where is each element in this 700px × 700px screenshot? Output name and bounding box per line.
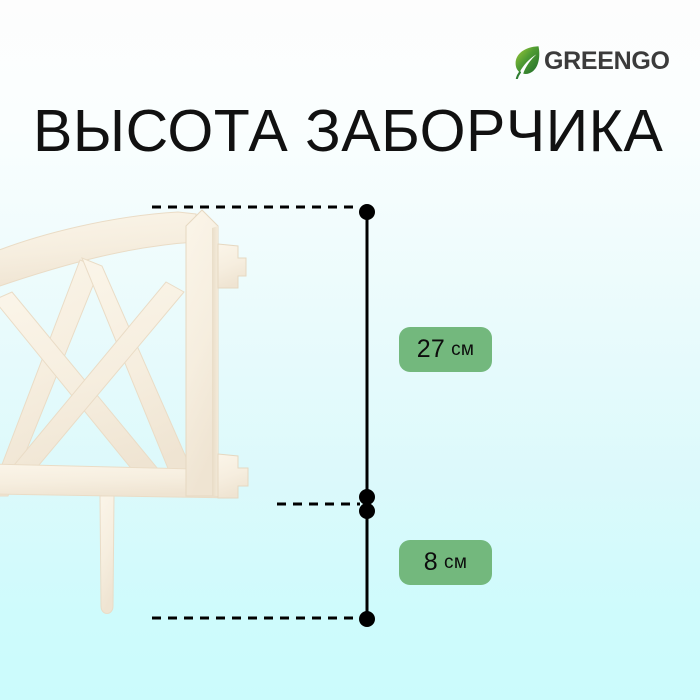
- measurement-value-lower: 8: [424, 548, 438, 577]
- brand-logo: GREENGO: [513, 41, 658, 81]
- leaf-icon: [513, 45, 541, 79]
- fence-ground-stake: [100, 496, 114, 614]
- dimension-endpoint-middle-upper: [359, 489, 375, 505]
- dimension-endpoint-bottom: [359, 611, 375, 627]
- measurement-unit-lower: см: [444, 552, 467, 574]
- dimension-endpoint-top: [359, 204, 375, 220]
- measurement-unit-upper: см: [451, 339, 474, 361]
- fence-connector-tab-upper: [218, 244, 246, 288]
- infographic-canvas: GREENGO ВЫСОТА ЗАБОРЧИКА: [0, 0, 700, 700]
- fence-illustration: [0, 196, 270, 636]
- fence-panel: [0, 210, 248, 614]
- measurement-value-upper: 27: [417, 335, 445, 364]
- fence-post-shading: [212, 226, 218, 496]
- measurement-badge-upper: 27 см: [399, 327, 492, 372]
- page-title: ВЫСОТА ЗАБОРЧИКА: [33, 101, 663, 163]
- fence-connector-tab-lower: [218, 454, 248, 498]
- measurement-badge-lower: 8 см: [399, 540, 492, 585]
- brand-name: GREENGO: [544, 49, 670, 74]
- dimension-endpoint-middle-lower: [359, 503, 375, 519]
